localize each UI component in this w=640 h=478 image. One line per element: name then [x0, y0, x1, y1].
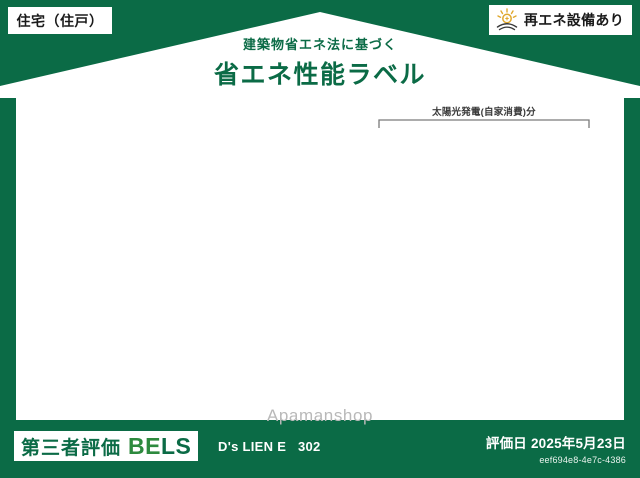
label-card — [16, 90, 624, 420]
bels-wordmark-part1: BE — [128, 433, 161, 459]
evaluation-info: 評価日 2025年5月23日 eef694e8-4e7c-4386 — [486, 432, 626, 465]
label-footer: 第三者評価 BELS D's LIEN E 302 評価日 2025年5月23日… — [0, 424, 640, 478]
bels-wordmark-part2: LS — [161, 433, 191, 459]
bels-logo-plate: 第三者評価 BELS — [14, 431, 198, 461]
evaluation-date: 評価日 2025年5月23日 — [486, 432, 626, 452]
energy-performance-label: 住宅（住戸） 再エネ設備あり 建築物省エネ法に基づく 省エネ性能ラベル エネルギ… — [0, 0, 640, 478]
property-name: D's LIEN E 302 — [218, 439, 321, 454]
evaluation-id: eef694e8-4e7c-4386 — [486, 455, 626, 465]
bels-third-party-label: 第三者評価 — [21, 433, 121, 460]
bels-wordmark: BELS — [128, 433, 191, 460]
roof-shape — [0, 12, 640, 98]
